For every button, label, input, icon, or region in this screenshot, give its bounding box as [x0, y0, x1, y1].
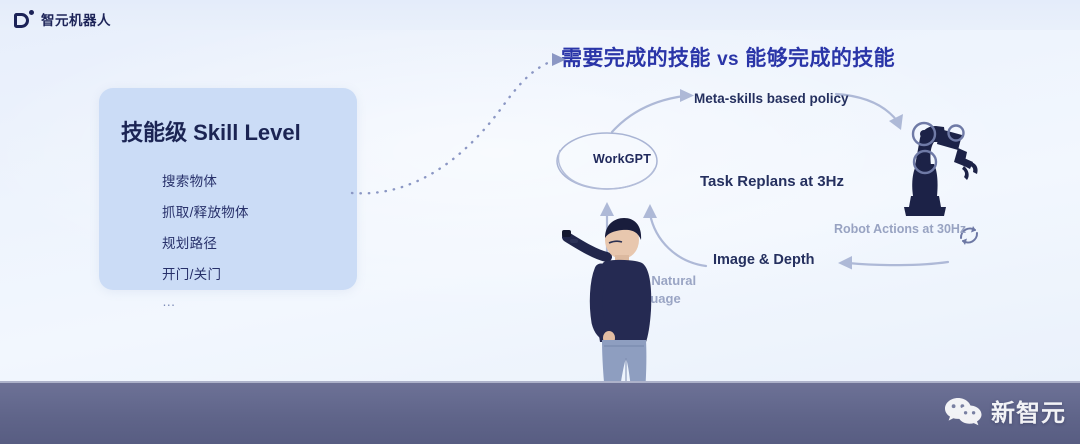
label-task-replans: Task Replans at 3Hz: [700, 172, 844, 192]
card-title: 技能级 Skill Level: [121, 115, 301, 147]
list-item: 搜索物体: [162, 170, 249, 190]
watermark-text: 新智元: [991, 393, 1066, 428]
watermark: 新智元: [944, 393, 1066, 428]
list-item: 开门/关门: [162, 263, 249, 283]
title-vs: vs: [717, 49, 739, 70]
skill-list: 搜索物体 抓取/释放物体 规划路径 开门/关门 …: [122, 170, 249, 320]
page-title: 需要完成的技能 vs 能够完成的技能: [561, 42, 895, 72]
stage-floor: [0, 381, 1080, 444]
skill-level-card: 技能级 Skill Level 搜索物体 抓取/释放物体 规划路径 开门/关门 …: [99, 88, 357, 290]
label-workgpt: WorkGPT: [575, 152, 669, 166]
wechat-icon: [944, 396, 984, 426]
screenshot-root: 智元机器人 需要完成的技能 vs 能够完成的技能 技能级 Skill Level…: [0, 0, 1080, 444]
presenter-arm: [562, 230, 607, 257]
title-right: 能够完成的技能: [745, 47, 895, 70]
clicker-icon: [562, 230, 571, 237]
brand-logo: 智元机器人: [14, 9, 111, 29]
robot-arm-icon: [884, 108, 984, 220]
list-item: 抓取/释放物体: [162, 201, 249, 221]
wall-top-band: [0, 0, 1080, 30]
label-robot-actions: Robot Actions at 30Hz: [834, 221, 966, 238]
label-meta-skills: Meta-skills based policy: [694, 90, 849, 108]
list-item: 规划路径: [162, 232, 249, 252]
robot-d-logo-icon: [14, 10, 33, 29]
title-left: 需要完成的技能: [561, 47, 711, 70]
list-item-ellipsis: …: [162, 294, 249, 309]
brand-name: 智元机器人: [41, 9, 111, 29]
label-image-depth: Image & Depth: [713, 251, 815, 270]
